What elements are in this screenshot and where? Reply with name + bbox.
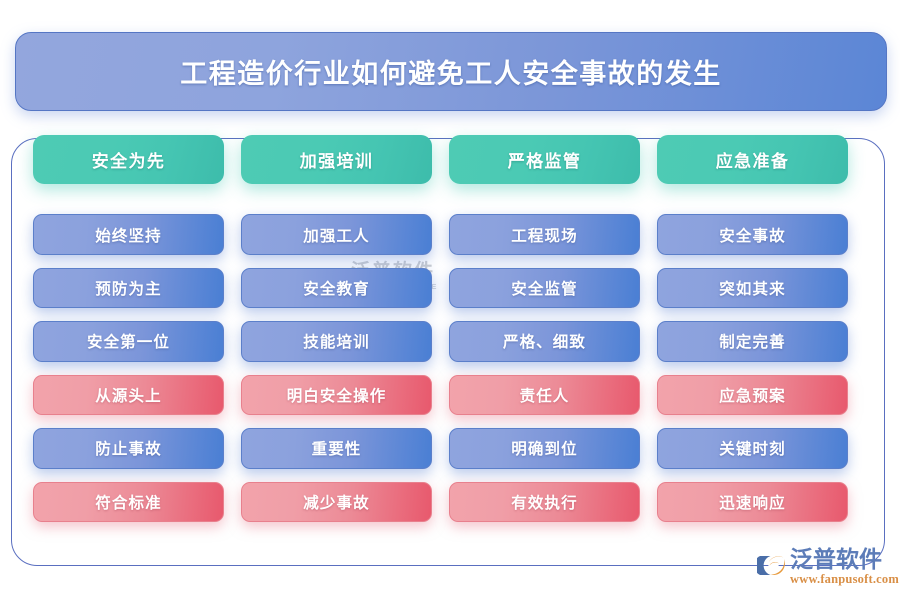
item-card-label: 突如其来 xyxy=(719,277,785,299)
item-card[interactable]: 始终坚持 xyxy=(33,214,224,254)
item-card[interactable]: 突如其来 xyxy=(657,268,848,308)
item-card[interactable]: 制定完善 xyxy=(657,321,848,361)
item-card-label: 工程现场 xyxy=(511,224,577,246)
item-card-label: 减少事故 xyxy=(303,491,369,513)
fanpu-swoosh-logo-icon xyxy=(757,550,787,580)
brand-name: 泛普软件 xyxy=(790,548,899,571)
item-card[interactable]: 安全第一位 xyxy=(33,321,224,361)
page-title: 工程造价行业如何避免工人安全事故的发生 xyxy=(180,52,722,91)
item-card-label: 安全教育 xyxy=(303,277,369,299)
column-header-card[interactable]: 应急准备 xyxy=(657,135,848,184)
column-header-card[interactable]: 安全为先 xyxy=(33,135,224,184)
item-card[interactable]: 符合标准 xyxy=(33,482,224,522)
column-header-label: 加强培训 xyxy=(300,147,374,172)
item-card-label: 安全第一位 xyxy=(87,330,170,352)
column-header-label: 安全为先 xyxy=(92,147,166,172)
column-header-label: 严格监管 xyxy=(508,147,582,172)
item-card-label: 预防为主 xyxy=(95,277,161,299)
brand-logo[interactable]: 泛普软件 www.fanpusoft.com xyxy=(757,548,899,586)
title-banner: 工程造价行业如何避免工人安全事故的发生 xyxy=(15,32,887,111)
item-card[interactable]: 预防为主 xyxy=(33,268,224,308)
item-card-label: 关键时刻 xyxy=(719,437,785,459)
item-card-label: 责任人 xyxy=(520,384,570,406)
item-card-label: 安全事故 xyxy=(719,224,785,246)
item-card-label: 有效执行 xyxy=(511,491,577,513)
item-card-label: 严格、细致 xyxy=(503,330,586,352)
item-card[interactable]: 工程现场 xyxy=(449,214,640,254)
item-card-label: 明白安全操作 xyxy=(287,384,387,406)
item-card[interactable]: 重要性 xyxy=(241,428,432,468)
item-card-label: 始终坚持 xyxy=(95,224,161,246)
item-card-label: 迅速响应 xyxy=(719,491,785,513)
column-header-card[interactable]: 加强培训 xyxy=(241,135,432,184)
item-card[interactable]: 明确到位 xyxy=(449,428,640,468)
item-card-label: 明确到位 xyxy=(511,437,577,459)
item-card-label: 加强工人 xyxy=(303,224,369,246)
item-card-label: 技能培训 xyxy=(303,330,369,352)
column-1: 安全为先始终坚持预防为主安全第一位从源头上防止事故符合标准 xyxy=(33,135,224,535)
item-card[interactable]: 安全事故 xyxy=(657,214,848,254)
column-2: 加强培训加强工人安全教育技能培训明白安全操作重要性减少事故 xyxy=(241,135,432,535)
item-card[interactable]: 迅速响应 xyxy=(657,482,848,522)
item-card[interactable]: 严格、细致 xyxy=(449,321,640,361)
column-header-card[interactable]: 严格监管 xyxy=(449,135,640,184)
brand-url: www.fanpusoft.com xyxy=(790,573,899,586)
item-card[interactable]: 防止事故 xyxy=(33,428,224,468)
column-header-label: 应急准备 xyxy=(716,147,790,172)
item-card[interactable]: 安全教育 xyxy=(241,268,432,308)
item-card-label: 符合标准 xyxy=(95,491,161,513)
item-card[interactable]: 责任人 xyxy=(449,375,640,415)
brand-text-group: 泛普软件 www.fanpusoft.com xyxy=(790,548,899,586)
item-card[interactable]: 应急预案 xyxy=(657,375,848,415)
item-card[interactable]: 技能培训 xyxy=(241,321,432,361)
columns-container: 安全为先始终坚持预防为主安全第一位从源头上防止事故符合标准加强培训加强工人安全教… xyxy=(33,135,867,535)
item-card[interactable]: 关键时刻 xyxy=(657,428,848,468)
item-card-label: 安全监管 xyxy=(511,277,577,299)
item-card-label: 制定完善 xyxy=(719,330,785,352)
item-card[interactable]: 明白安全操作 xyxy=(241,375,432,415)
column-3: 严格监管工程现场安全监管严格、细致责任人明确到位有效执行 xyxy=(449,135,640,535)
infographic-canvas: 工程造价行业如何避免工人安全事故的发生 泛普软件 FANPU SOFTWARE … xyxy=(0,0,900,600)
item-card-label: 从源头上 xyxy=(95,384,161,406)
item-card[interactable]: 从源头上 xyxy=(33,375,224,415)
item-card[interactable]: 有效执行 xyxy=(449,482,640,522)
item-card[interactable]: 安全监管 xyxy=(449,268,640,308)
item-card[interactable]: 加强工人 xyxy=(241,214,432,254)
item-card-label: 重要性 xyxy=(312,437,362,459)
item-card-label: 防止事故 xyxy=(95,437,161,459)
item-card-label: 应急预案 xyxy=(719,384,785,406)
column-4: 应急准备安全事故突如其来制定完善应急预案关键时刻迅速响应 xyxy=(657,135,848,535)
item-card[interactable]: 减少事故 xyxy=(241,482,432,522)
